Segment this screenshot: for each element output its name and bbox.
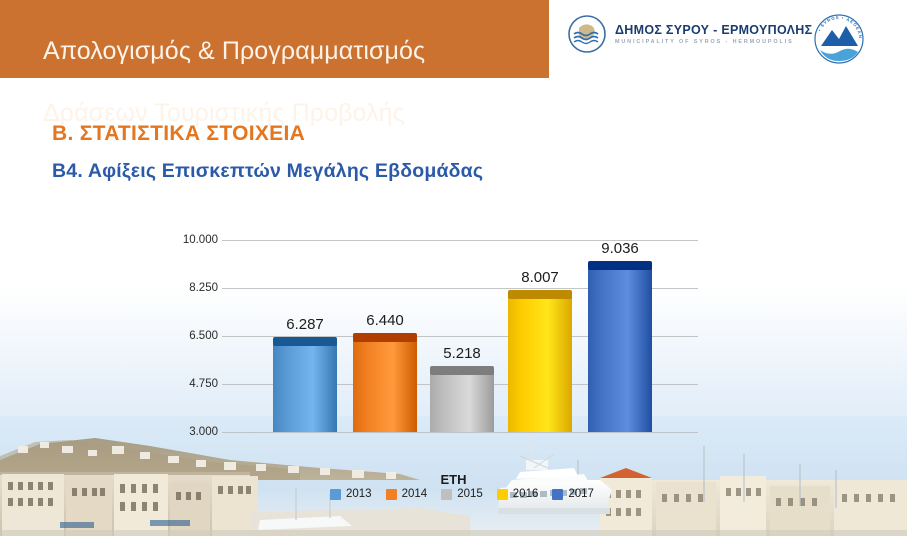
legend-label: 2016	[513, 488, 539, 500]
bar-2017	[588, 266, 652, 432]
legend-swatch	[552, 489, 563, 500]
municipality-name-en: MUNICIPALITY OF SYROS - HERMOUPOLIS	[615, 39, 812, 45]
section-title: Β. ΣΤΑΤΙΣΤΙΚΑ ΣΤΟΙΧΕΙΑ	[52, 122, 305, 146]
y-axis-labels: 10.0008.2506.5004.7503.000	[170, 240, 218, 432]
y-axis-tick-label: 8.250	[189, 282, 218, 294]
municipality-crest-icon	[567, 14, 607, 54]
legend-label: 2013	[346, 488, 372, 500]
legend-swatch	[330, 489, 341, 500]
bar-2014	[353, 338, 417, 432]
legend-swatch	[386, 489, 397, 500]
chart-bars: 6.2876.4405.2188.0079.036	[268, 200, 668, 435]
bar-face	[430, 371, 494, 432]
presentation-title-line1: Απολογισμός & Προγραμματισμός	[43, 36, 543, 67]
bar-face	[353, 338, 417, 432]
y-axis-tick-label: 4.750	[189, 378, 218, 390]
bar-2013	[273, 342, 337, 432]
y-axis-tick-label: 6.500	[189, 330, 218, 342]
bar-top-face	[273, 337, 337, 346]
legend-item-2013[interactable]: 2013	[330, 488, 372, 500]
header-orange-band: Απολογισμός & Προγραμματισμός Δράσεων Το…	[0, 0, 548, 78]
bar-face	[588, 266, 652, 432]
header-logo-panel: ΔΗΜΟΣ ΣΥΡΟΥ - ΕΡΜΟΥΠΟΛΗΣ MUNICIPALITY OF…	[548, 0, 907, 78]
legend-item-2015[interactable]: 2015	[441, 488, 483, 500]
section-subtitle: Β4. Αφίξεις Επισκεπτών Μεγάλης Εβδομάδας	[52, 160, 483, 183]
bar-value-label: 6.287	[286, 316, 324, 333]
bar-top-face	[353, 333, 417, 342]
y-axis-tick-label: 10.000	[183, 234, 218, 246]
bar-value-label: 9.036	[601, 240, 639, 257]
bar-value-label: 5.218	[443, 345, 481, 362]
legend-item-2016[interactable]: 2016	[497, 488, 539, 500]
bar-top-face	[430, 366, 494, 375]
syros-aegean-sea-seal-icon: • SYROS • AEGEAN SEA •	[808, 8, 870, 70]
bar-value-label: 8.007	[521, 269, 559, 286]
legend-label: 2015	[457, 488, 483, 500]
legend-label: 2017	[568, 488, 594, 500]
legend-label: 2014	[402, 488, 428, 500]
municipality-logo-lockup: ΔΗΜΟΣ ΣΥΡΟΥ - ΕΡΜΟΥΠΟΛΗΣ MUNICIPALITY OF…	[567, 14, 812, 54]
chart-legend: 20132014201520162017	[330, 488, 594, 500]
municipality-name-block: ΔΗΜΟΣ ΣΥΡΟΥ - ΕΡΜΟΥΠΟΛΗΣ MUNICIPALITY OF…	[615, 23, 812, 45]
legend-item-2014[interactable]: 2014	[386, 488, 428, 500]
bar-value-label: 6.440	[366, 312, 404, 329]
municipality-name-gr: ΔΗΜΟΣ ΣΥΡΟΥ - ΕΡΜΟΥΠΟΛΗΣ	[615, 23, 812, 37]
x-axis-title: ΕΤΗ	[0, 472, 907, 487]
slide-canvas: 10.0008.2506.5004.7503.000 6.2876.4405.2…	[0, 0, 907, 536]
bar-face	[508, 295, 572, 432]
bar-face	[273, 342, 337, 432]
bar-top-face	[588, 261, 652, 270]
legend-swatch	[441, 489, 452, 500]
bar-2015	[430, 371, 494, 432]
bar-2016	[508, 295, 572, 432]
y-axis-tick-label: 3.000	[189, 426, 218, 438]
legend-item-2017[interactable]: 2017	[552, 488, 594, 500]
slide-header: Απολογισμός & Προγραμματισμός Δράσεων Το…	[0, 0, 907, 78]
bar-top-face	[508, 290, 572, 299]
legend-swatch	[497, 489, 508, 500]
